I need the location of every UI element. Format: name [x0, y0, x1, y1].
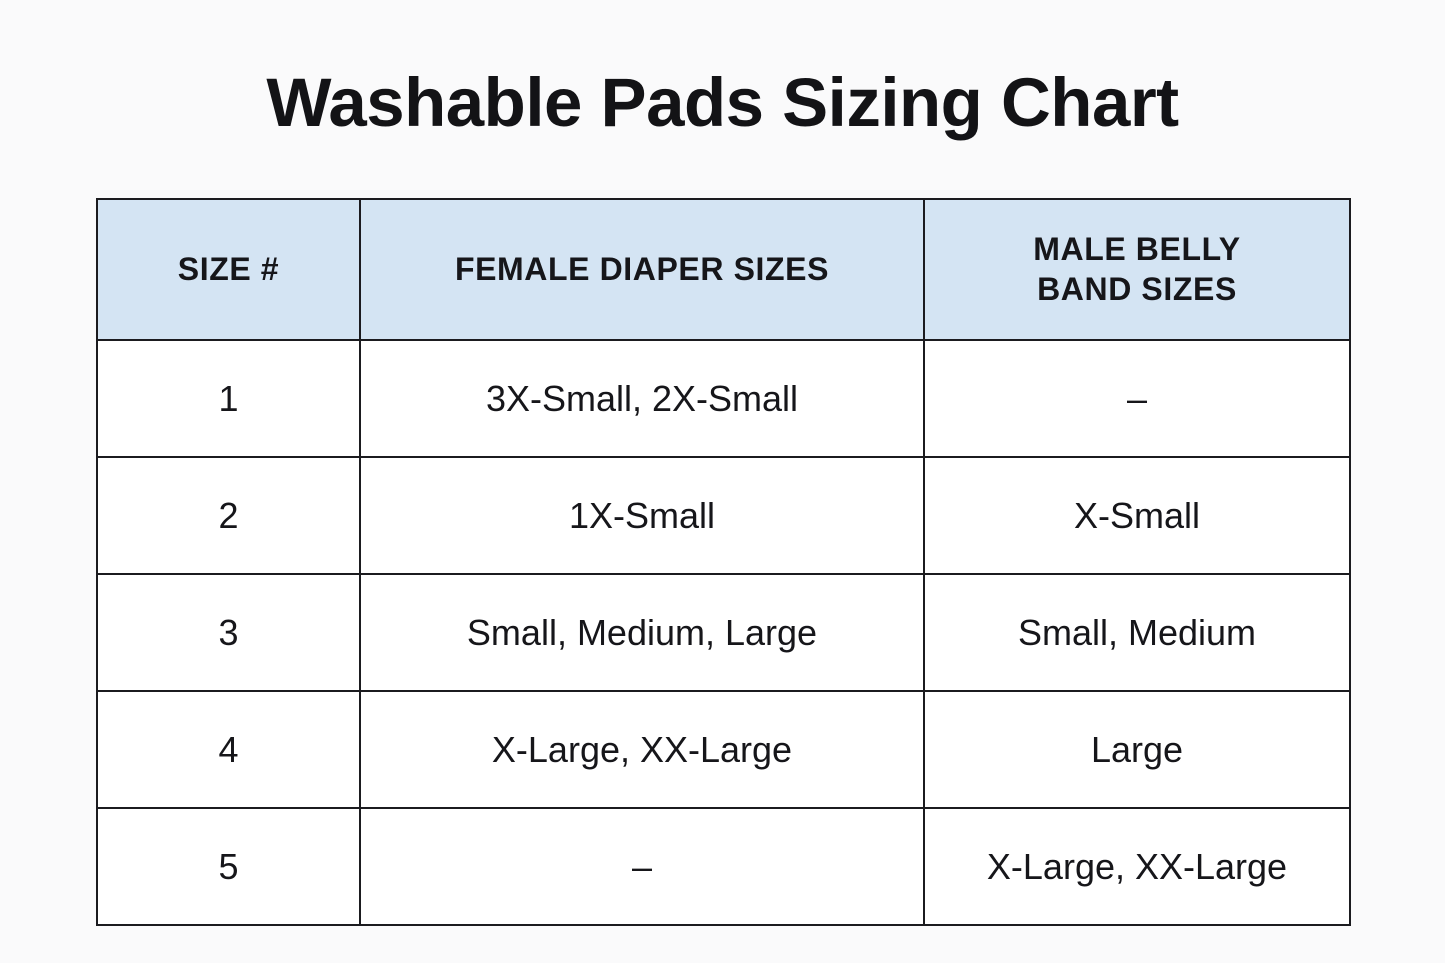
cell-female-sizes: 1X-Small — [360, 457, 924, 574]
column-header-male-line-1: MALE BELLY — [935, 230, 1339, 269]
cell-female-sizes: X-Large, XX-Large — [360, 691, 924, 808]
cell-male-sizes: X-Large, XX-Large — [924, 808, 1350, 925]
cell-size: 5 — [97, 808, 360, 925]
cell-female-sizes: 3X-Small, 2X-Small — [360, 340, 924, 457]
washable-pads-sizing-table: SIZE # FEMALE DIAPER SIZES MALE BELLY BA… — [96, 198, 1351, 926]
cell-female-sizes: Small, Medium, Large — [360, 574, 924, 691]
cell-size: 2 — [97, 457, 360, 574]
table-row: 3 Small, Medium, Large Small, Medium — [97, 574, 1350, 691]
column-header-size: SIZE # — [97, 199, 360, 340]
cell-male-sizes: X-Small — [924, 457, 1350, 574]
cell-male-sizes: Small, Medium — [924, 574, 1350, 691]
cell-female-sizes: – — [360, 808, 924, 925]
table-header-row: SIZE # FEMALE DIAPER SIZES MALE BELLY BA… — [97, 199, 1350, 340]
sizing-chart-page: Washable Pads Sizing Chart SIZE # FEMALE… — [0, 0, 1445, 963]
cell-male-sizes: – — [924, 340, 1350, 457]
column-header-female-diaper-sizes: FEMALE DIAPER SIZES — [360, 199, 924, 340]
cell-size: 4 — [97, 691, 360, 808]
table-row: 5 – X-Large, XX-Large — [97, 808, 1350, 925]
table-row: 4 X-Large, XX-Large Large — [97, 691, 1350, 808]
table-row: 2 1X-Small X-Small — [97, 457, 1350, 574]
column-header-male-line-2: BAND SIZES — [935, 270, 1339, 309]
page-title: Washable Pads Sizing Chart — [0, 68, 1445, 137]
table-row: 1 3X-Small, 2X-Small – — [97, 340, 1350, 457]
cell-size: 1 — [97, 340, 360, 457]
table-body: 1 3X-Small, 2X-Small – 2 1X-Small X-Smal… — [97, 340, 1350, 925]
cell-male-sizes: Large — [924, 691, 1350, 808]
sizing-table-container: SIZE # FEMALE DIAPER SIZES MALE BELLY BA… — [96, 198, 1349, 890]
table-header: SIZE # FEMALE DIAPER SIZES MALE BELLY BA… — [97, 199, 1350, 340]
cell-size: 3 — [97, 574, 360, 691]
column-header-male-belly-band-sizes: MALE BELLY BAND SIZES — [924, 199, 1350, 340]
